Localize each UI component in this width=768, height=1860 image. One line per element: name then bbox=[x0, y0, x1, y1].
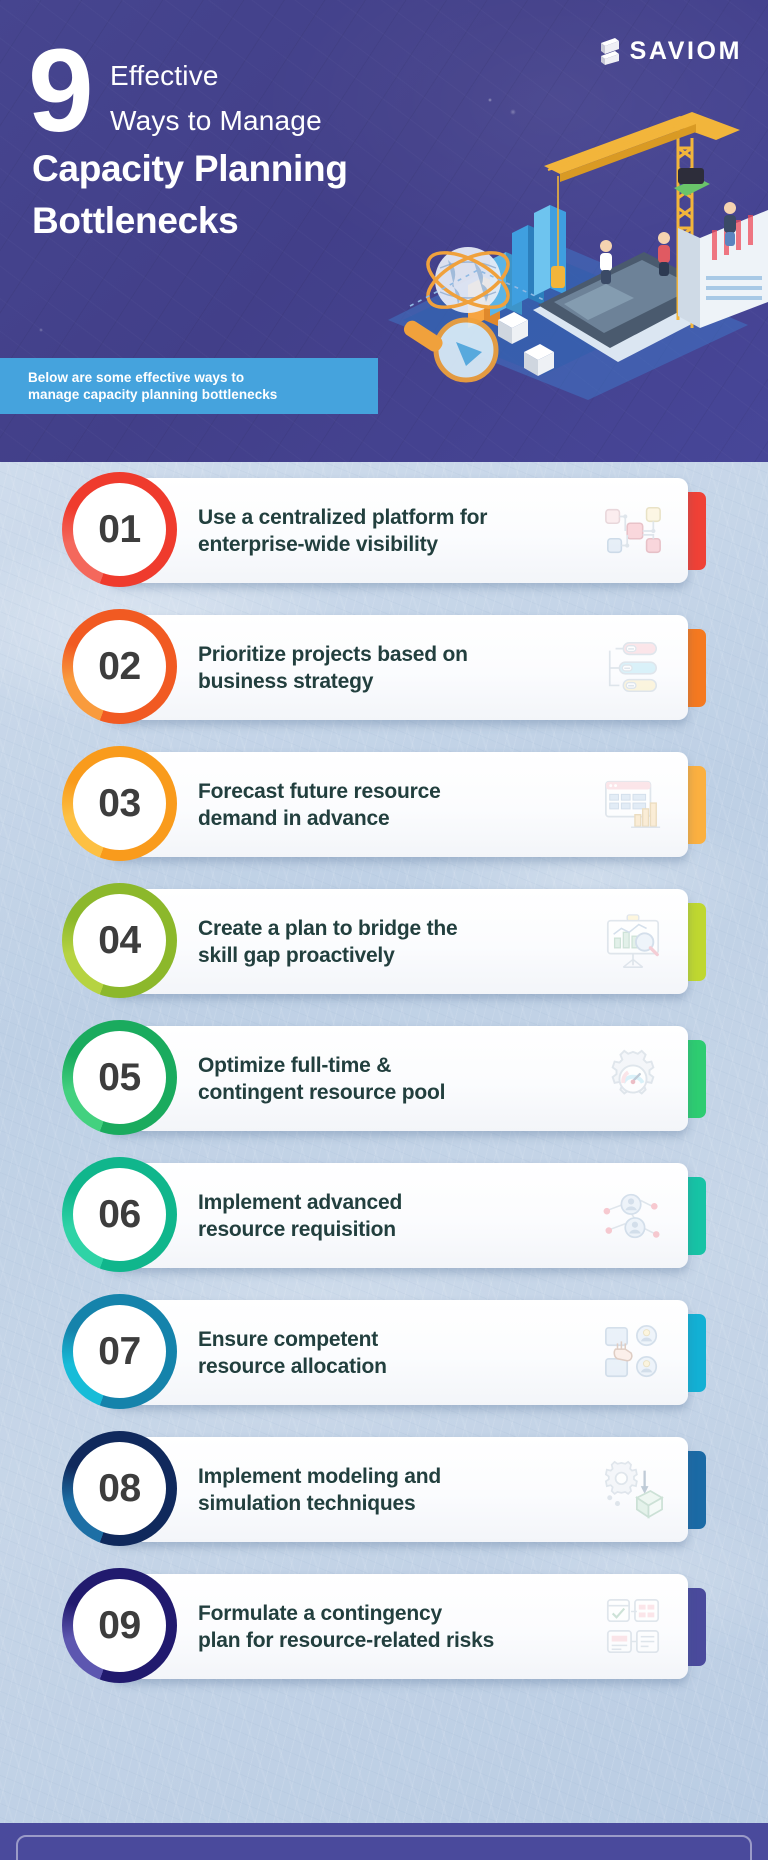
gear-gauge-icon bbox=[602, 1048, 664, 1110]
tip-text-line-2: contingent resource pool bbox=[198, 1079, 588, 1106]
tip-text-line-1: Formulate a contingency bbox=[198, 1600, 588, 1627]
tip-card[interactable]: Optimize full-time & contingent resource… bbox=[110, 1026, 688, 1131]
tip-text-line-2: business strategy bbox=[198, 668, 588, 695]
gear-cube-simulation-icon bbox=[602, 1459, 664, 1521]
list-item[interactable]: Implement modeling and simulation techni… bbox=[0, 1421, 768, 1558]
step-inner: 05 bbox=[73, 1031, 166, 1124]
tip-text: Implement advanced resource requisition bbox=[198, 1189, 588, 1243]
list-item[interactable]: Prioritize projects based on business st… bbox=[0, 599, 768, 736]
tip-text: Implement modeling and simulation techni… bbox=[198, 1463, 588, 1517]
presentation-analysis-icon bbox=[602, 911, 664, 973]
tip-card[interactable]: Ensure competent resource allocation bbox=[110, 1300, 688, 1405]
step-number: 04 bbox=[98, 919, 140, 963]
step-inner: 02 bbox=[73, 620, 166, 713]
tip-text-line-1: Prioritize projects based on bbox=[198, 641, 588, 668]
tip-text: Create a plan to bridge the skill gap pr… bbox=[198, 915, 588, 969]
step-number: 09 bbox=[98, 1604, 140, 1648]
tip-card[interactable]: Implement advanced resource requisition bbox=[110, 1163, 688, 1268]
footer-outline-box bbox=[16, 1835, 752, 1860]
step-number-circle: 07 bbox=[62, 1294, 177, 1409]
step-number: 07 bbox=[98, 1330, 140, 1374]
tip-text-line-1: Forecast future resource bbox=[198, 778, 588, 805]
step-inner: 07 bbox=[73, 1305, 166, 1398]
tip-text-line-1: Optimize full-time & bbox=[198, 1052, 588, 1079]
saviom-logo[interactable]: SAVIOM bbox=[599, 36, 742, 66]
subtitle-line-1: Below are some effective ways to bbox=[28, 369, 378, 386]
step-inner: 06 bbox=[73, 1168, 166, 1261]
network-nodes-icon bbox=[602, 500, 664, 562]
priority-list-icon bbox=[602, 637, 664, 699]
tip-text: Optimize full-time & contingent resource… bbox=[198, 1052, 588, 1106]
step-number-circle: 05 bbox=[62, 1020, 177, 1135]
tip-text: Formulate a contingency plan for resourc… bbox=[198, 1600, 588, 1654]
headline-line-1: Effective bbox=[110, 60, 219, 92]
tip-text: Ensure competent resource allocation bbox=[198, 1326, 588, 1380]
step-number-circle: 08 bbox=[62, 1431, 177, 1546]
tip-text-line-2: resource requisition bbox=[198, 1216, 588, 1243]
step-number: 02 bbox=[98, 645, 140, 689]
step-number: 01 bbox=[98, 508, 140, 552]
saviom-logo-text: SAVIOM bbox=[630, 37, 742, 66]
headline-bold-line-2: Bottlenecks bbox=[32, 200, 238, 242]
list-item[interactable]: Ensure competent resource allocation bbox=[0, 1284, 768, 1421]
step-number-circle: 03 bbox=[62, 746, 177, 861]
list-item[interactable]: Create a plan to bridge the skill gap pr… bbox=[0, 873, 768, 1010]
step-inner: 01 bbox=[73, 483, 166, 576]
step-number: 05 bbox=[98, 1056, 140, 1100]
tip-text-line-2: demand in advance bbox=[198, 805, 588, 832]
tip-text-line-1: Ensure competent bbox=[198, 1326, 588, 1353]
list-item[interactable]: Implement advanced resource requisition bbox=[0, 1147, 768, 1284]
step-number: 03 bbox=[98, 782, 140, 826]
list-item[interactable]: Optimize full-time & contingent resource… bbox=[0, 1010, 768, 1147]
list-item[interactable]: Use a centralized platform for enterpris… bbox=[0, 462, 768, 599]
tip-card[interactable]: Prioritize projects based on business st… bbox=[110, 615, 688, 720]
tip-text-line-2: resource allocation bbox=[198, 1353, 588, 1380]
tip-text-line-2: skill gap proactively bbox=[198, 942, 588, 969]
headline-bold-line-1: Capacity Planning bbox=[32, 148, 348, 190]
footer-band bbox=[0, 1823, 768, 1860]
list-item[interactable]: Forecast future resource demand in advan… bbox=[0, 736, 768, 873]
tip-text: Prioritize projects based on business st… bbox=[198, 641, 588, 695]
tip-text-line-1: Implement modeling and bbox=[198, 1463, 588, 1490]
tip-text: Forecast future resource demand in advan… bbox=[198, 778, 588, 832]
tip-text-line-1: Create a plan to bridge the bbox=[198, 915, 588, 942]
tip-card[interactable]: Use a centralized platform for enterpris… bbox=[110, 478, 688, 583]
tip-card[interactable]: Formulate a contingency plan for resourc… bbox=[110, 1574, 688, 1679]
tip-card[interactable]: Implement modeling and simulation techni… bbox=[110, 1437, 688, 1542]
step-number-circle: 02 bbox=[62, 609, 177, 724]
infographic-page: 9 Effective Ways to Manage Capacity Plan… bbox=[0, 0, 768, 1860]
header-banner: 9 Effective Ways to Manage Capacity Plan… bbox=[0, 0, 768, 462]
step-inner: 08 bbox=[73, 1442, 166, 1535]
tip-card[interactable]: Create a plan to bridge the skill gap pr… bbox=[110, 889, 688, 994]
tip-text-line-1: Implement advanced bbox=[198, 1189, 588, 1216]
list-item[interactable]: Formulate a contingency plan for resourc… bbox=[0, 1558, 768, 1695]
saviom-s-mark-icon bbox=[599, 36, 621, 66]
step-inner: 09 bbox=[73, 1579, 166, 1672]
step-number-circle: 06 bbox=[62, 1157, 177, 1272]
tip-card[interactable]: Forecast future resource demand in advan… bbox=[110, 752, 688, 857]
tip-text: Use a centralized platform for enterpris… bbox=[198, 504, 588, 558]
step-number: 06 bbox=[98, 1193, 140, 1237]
user-network-icon bbox=[602, 1185, 664, 1247]
step-inner: 04 bbox=[73, 894, 166, 987]
documents-plan-icon bbox=[602, 1596, 664, 1658]
forecast-chart-icon bbox=[602, 774, 664, 836]
tips-list: Use a centralized platform for enterpris… bbox=[0, 462, 768, 1695]
tip-text-line-2: simulation techniques bbox=[198, 1490, 588, 1517]
tip-text-line-2: enterprise-wide visibility bbox=[198, 531, 588, 558]
hand-select-user-icon bbox=[602, 1322, 664, 1384]
tip-text-line-2: plan for resource-related risks bbox=[198, 1627, 588, 1654]
headline-big-number: 9 bbox=[28, 32, 91, 150]
isometric-construction-illustration bbox=[348, 70, 768, 400]
step-number: 08 bbox=[98, 1467, 140, 1511]
step-number-circle: 09 bbox=[62, 1568, 177, 1683]
step-number-circle: 01 bbox=[62, 472, 177, 587]
step-number-circle: 04 bbox=[62, 883, 177, 998]
tip-text-line-1: Use a centralized platform for bbox=[198, 504, 588, 531]
step-inner: 03 bbox=[73, 757, 166, 850]
subtitle-banner: Below are some effective ways to manage … bbox=[0, 358, 378, 414]
subtitle-line-2: manage capacity planning bottlenecks bbox=[28, 386, 378, 403]
headline-line-2: Ways to Manage bbox=[110, 105, 322, 137]
